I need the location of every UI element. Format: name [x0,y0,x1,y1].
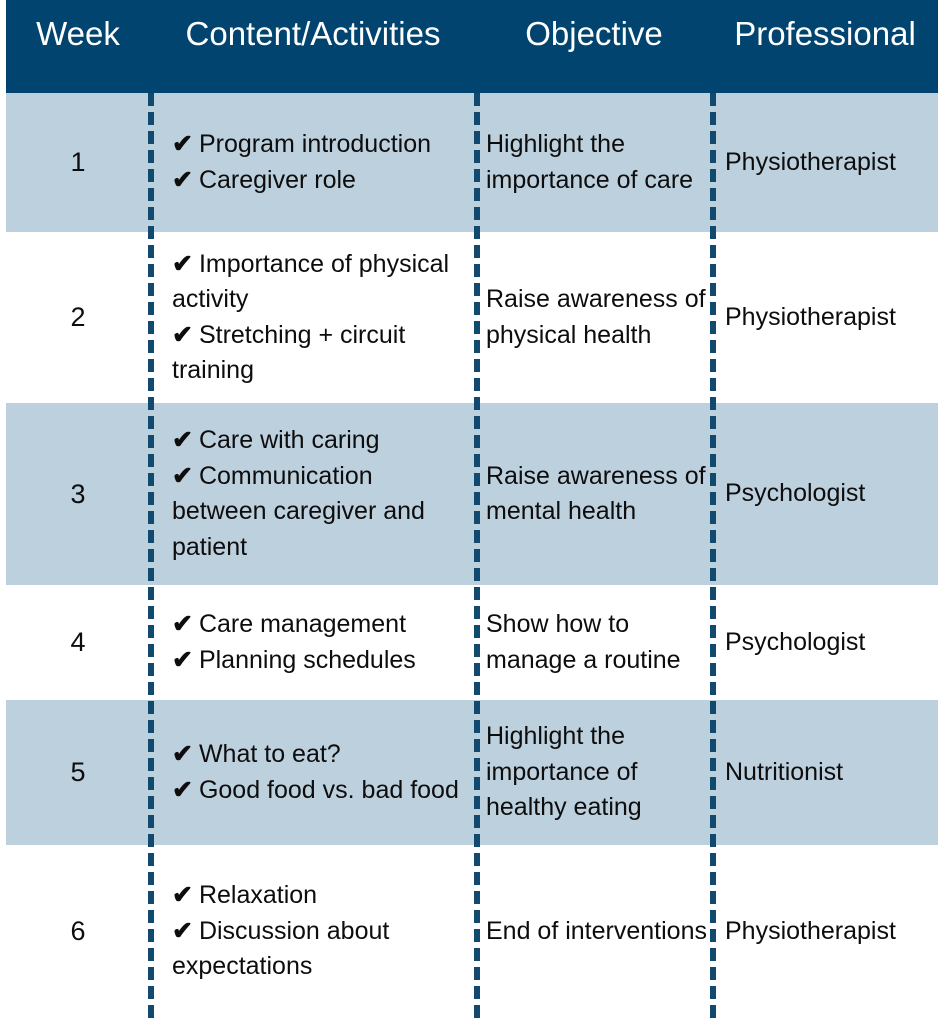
column-divider-content-objective [474,93,480,1018]
table-row: 3✔Care with caring✔Communication between… [6,403,938,585]
column-divider-objective-professional [710,93,716,1018]
activity-item: ✔Program introduction [172,127,470,163]
activity-item: ✔Care with caring [172,423,470,459]
table-row: 4✔Care management✔Planning schedulesShow… [6,585,938,700]
activity-label: Stretching + circuit training [172,321,405,385]
cell-content-activities: ✔Care management✔Planning schedules [150,607,476,678]
cell-objective: Raise awareness of physical health [476,282,712,353]
cell-content-activities: ✔Care with caring✔Communication between … [150,423,476,565]
activity-item: ✔Relaxation [172,878,470,914]
cell-professional: Physiotherapist [712,914,938,950]
check-icon: ✔ [172,426,193,454]
cell-objective: Show how to manage a routine [476,607,712,678]
activity-label: Relaxation [199,881,317,909]
check-icon: ✔ [172,917,193,945]
check-icon: ✔ [172,166,193,194]
cell-content-activities: ✔Relaxation✔Discussion about expectation… [150,878,476,985]
column-divider-week-content [148,93,154,1018]
cell-professional: Psychologist [712,625,938,661]
check-icon: ✔ [172,776,193,804]
activity-label: Program introduction [199,130,431,158]
cell-objective: Raise awareness of mental health [476,459,712,530]
cell-professional: Nutritionist [712,755,938,791]
check-icon: ✔ [172,610,193,638]
table-row: 2✔Importance of physical activity✔Stretc… [6,232,938,403]
check-icon: ✔ [172,646,193,674]
cell-objective: Highlight the importance of care [476,127,712,198]
activity-label: Importance of physical activity [172,250,449,314]
cell-objective: End of interventions [476,914,712,950]
cell-week: 3 [6,475,150,513]
cell-content-activities: ✔What to eat?✔Good food vs. bad food [150,737,476,808]
program-schedule-table: Week Content/Activities Objective Profes… [0,0,945,1018]
activity-label: Good food vs. bad food [199,776,459,804]
activity-item: ✔Discussion about expectations [172,914,470,985]
check-icon: ✔ [172,250,193,278]
cell-week: 5 [6,753,150,791]
activity-label: What to eat? [199,740,341,768]
cell-week: 2 [6,298,150,336]
activity-item: ✔What to eat? [172,737,470,773]
activity-label: Discussion about expectations [172,917,389,981]
column-header-objective: Objective [476,17,712,52]
check-icon: ✔ [172,130,193,158]
cell-week: 4 [6,623,150,661]
check-icon: ✔ [172,462,193,490]
activity-item: ✔Communication between caregiver and pat… [172,459,470,566]
cell-professional: Physiotherapist [712,145,938,181]
check-icon: ✔ [172,321,193,349]
activity-item: ✔Stretching + circuit training [172,318,470,389]
check-icon: ✔ [172,740,193,768]
activity-item: ✔Care management [172,607,470,643]
activity-label: Care management [199,610,406,638]
activity-label: Planning schedules [199,646,416,674]
cell-week: 1 [6,143,150,181]
table-row: 5✔What to eat?✔Good food vs. bad foodHig… [6,700,938,845]
cell-professional: Psychologist [712,476,938,512]
cell-content-activities: ✔Importance of physical activity✔Stretch… [150,247,476,389]
table-row: 6✔Relaxation✔Discussion about expectatio… [6,845,938,1018]
activity-item: ✔Good food vs. bad food [172,773,470,809]
activity-item: ✔Caregiver role [172,163,470,199]
activity-label: Caregiver role [199,166,356,194]
activity-item: ✔Importance of physical activity [172,247,470,318]
cell-objective: Highlight the importance of healthy eati… [476,719,712,826]
column-header-professional: Professional [712,17,938,52]
table-header-row: Week Content/Activities Objective Profes… [6,0,938,93]
table-row: 1✔Program introduction✔Caregiver roleHig… [6,93,938,232]
table-body: 1✔Program introduction✔Caregiver roleHig… [0,93,945,1018]
cell-content-activities: ✔Program introduction✔Caregiver role [150,127,476,198]
cell-week: 6 [6,912,150,950]
activity-label: Care with caring [199,426,380,454]
column-header-week: Week [6,17,150,52]
activity-label: Communication between caregiver and pati… [172,462,425,561]
activity-item: ✔Planning schedules [172,643,470,679]
check-icon: ✔ [172,881,193,909]
cell-professional: Physiotherapist [712,300,938,336]
column-header-content: Content/Activities [150,17,476,52]
